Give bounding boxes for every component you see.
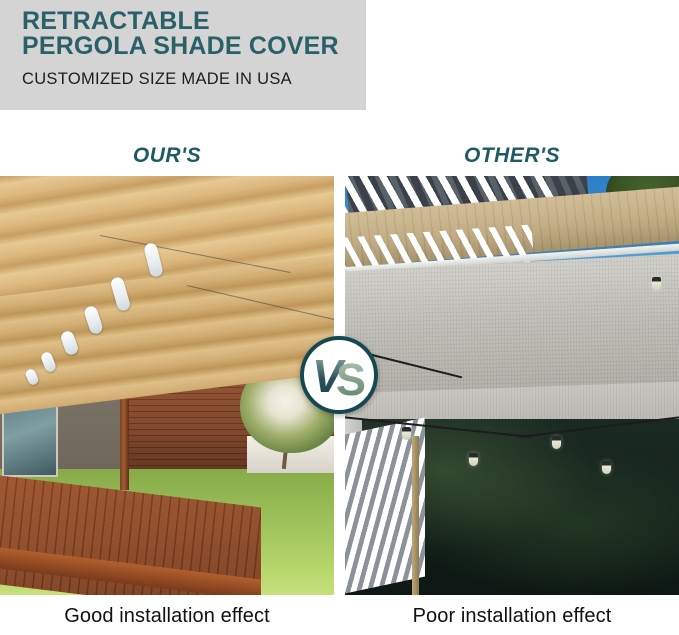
photo-ours (0, 176, 334, 595)
header-banner: RETRACTABLE PERGOLA SHADE COVER CUSTOMIZ… (0, 0, 366, 110)
string-light-bulb (552, 436, 561, 449)
photo-ours-scene (0, 176, 334, 595)
vs-badge-letter-s: S (336, 354, 366, 398)
photo-others-scene (345, 176, 679, 595)
wood-post (412, 436, 419, 595)
string-light-bulb (402, 427, 411, 440)
vs-badge: V S (300, 336, 378, 414)
product-title: RETRACTABLE PERGOLA SHADE COVER (22, 9, 362, 59)
comparison-heading-ours: OUR'S (0, 144, 334, 170)
string-light-bulb (602, 461, 611, 474)
caption-ours: Good installation effect (0, 605, 334, 631)
caption-others: Poor installation effect (345, 605, 679, 631)
photo-others (345, 176, 679, 595)
product-subtitle: CUSTOMIZED SIZE MADE IN USA (22, 70, 292, 89)
comparison-heading-others: OTHER'S (345, 144, 679, 170)
string-light-bulb (469, 453, 478, 466)
string-light-bulb (652, 277, 661, 290)
